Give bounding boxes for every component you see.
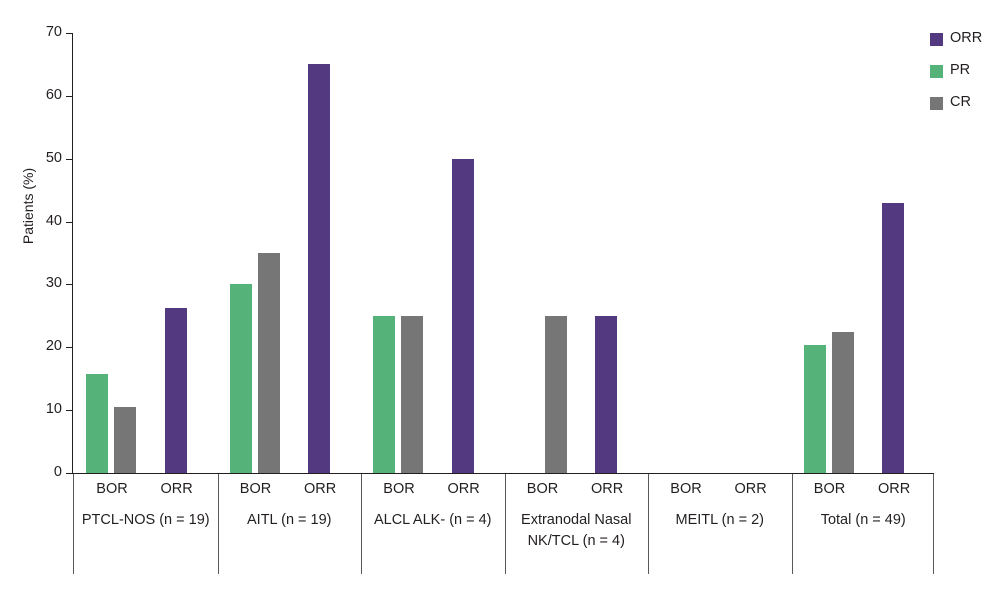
legend-item[interactable]: PR (930, 62, 1000, 94)
category-cell: BORORRExtranodal NasalNK/TCL (n = 4) (505, 474, 649, 574)
legend-label: ORR (950, 30, 982, 47)
category-label: Total (n = 49) (792, 510, 936, 531)
y-axis-tick-label: 40 (24, 214, 62, 229)
y-axis-tick-label: 10 (24, 402, 62, 417)
category-subrow: BORORR (505, 481, 649, 503)
plot-area (73, 33, 933, 473)
category-label: PTCL-NOS (n = 19) (74, 510, 218, 531)
y-axis-tick (66, 347, 73, 348)
bar-cr (258, 253, 280, 473)
category-cell: BORORRPTCL-NOS (n = 19) (74, 474, 218, 574)
subgroup-label-orr: ORR (721, 481, 781, 497)
legend-swatch-icon (930, 33, 943, 46)
y-axis-tick-label: 0 (24, 465, 62, 480)
category-subrow: BORORR (74, 481, 218, 503)
category-divider (505, 474, 506, 574)
chart-legend: ORRPRCR (930, 30, 1000, 126)
category-subrow: BORORR (792, 481, 936, 503)
subgroup-label-orr: ORR (147, 481, 207, 497)
category-label-line: Extranodal Nasal (507, 510, 647, 531)
y-axis-tick-label: 20 (24, 339, 62, 354)
subgroup-label-orr: ORR (577, 481, 637, 497)
legend-label: PR (950, 62, 970, 79)
category-subrow: BORORR (361, 481, 505, 503)
category-label: AITL (n = 19) (218, 510, 362, 531)
bar-group (791, 33, 935, 473)
bar-orr (165, 308, 187, 473)
legend-swatch-icon (930, 65, 943, 78)
category-cell: BORORRTotal (n = 49) (792, 474, 936, 574)
bar-chart: Patients (%) 010203040506070 BORORRPTCL-… (0, 0, 1000, 594)
subgroup-label-bor: BOR (513, 481, 573, 497)
subgroup-label-bor: BOR (656, 481, 716, 497)
bar-cr (401, 316, 423, 473)
bar-pr (86, 374, 108, 473)
y-axis-tick (66, 222, 73, 223)
y-axis-tick-label: 60 (24, 88, 62, 103)
y-axis-tick (66, 96, 73, 97)
y-axis-tick (66, 159, 73, 160)
category-subrow: BORORR (218, 481, 362, 503)
legend-item[interactable]: ORR (930, 30, 1000, 62)
y-axis-tick-label: 70 (24, 25, 62, 40)
bar-orr (882, 203, 904, 473)
bar-orr (308, 64, 330, 473)
category-cell: BORORRMEITL (n = 2) (648, 474, 792, 574)
bar-group (647, 33, 791, 473)
category-cell: BORORRAITL (n = 19) (218, 474, 362, 574)
subgroup-label-orr: ORR (864, 481, 924, 497)
legend-swatch-icon (930, 97, 943, 110)
category-label: ALCL ALK- (n = 4) (361, 510, 505, 531)
subgroup-label-orr: ORR (434, 481, 494, 497)
bar-group (73, 33, 217, 473)
subgroup-label-bor: BOR (369, 481, 429, 497)
bar-group (217, 33, 361, 473)
bar-cr (832, 332, 854, 473)
category-subrow: BORORR (648, 481, 792, 503)
subgroup-label-bor: BOR (82, 481, 142, 497)
bar-orr (452, 159, 474, 473)
bar-pr (230, 284, 252, 473)
subgroup-label-bor: BOR (800, 481, 860, 497)
subgroup-label-orr: ORR (290, 481, 350, 497)
category-label: MEITL (n = 2) (648, 510, 792, 531)
category-cell: BORORRALCL ALK- (n = 4) (361, 474, 505, 574)
bar-pr (373, 316, 395, 473)
bar-group (360, 33, 504, 473)
y-axis-tick (66, 284, 73, 285)
subgroup-label-bor: BOR (226, 481, 286, 497)
bar-cr (545, 316, 567, 473)
y-axis-tick-label: 30 (24, 276, 62, 291)
legend-item[interactable]: CR (930, 94, 1000, 126)
category-divider (361, 474, 362, 574)
category-divider (792, 474, 793, 574)
category-divider (218, 474, 219, 574)
bar-cr (114, 407, 136, 473)
legend-label: CR (950, 94, 971, 111)
y-axis-tick-label: 50 (24, 151, 62, 166)
y-axis-tick (66, 410, 73, 411)
bar-pr (804, 345, 826, 473)
category-label: Extranodal NasalNK/TCL (n = 4) (505, 510, 649, 552)
category-axis-table: BORORRPTCL-NOS (n = 19)BORORRAITL (n = 1… (73, 474, 934, 574)
y-axis-tick (66, 33, 73, 34)
bar-orr (595, 316, 617, 473)
bar-group (504, 33, 648, 473)
category-divider (648, 474, 649, 574)
category-label-line: NK/TCL (n = 4) (507, 531, 647, 552)
